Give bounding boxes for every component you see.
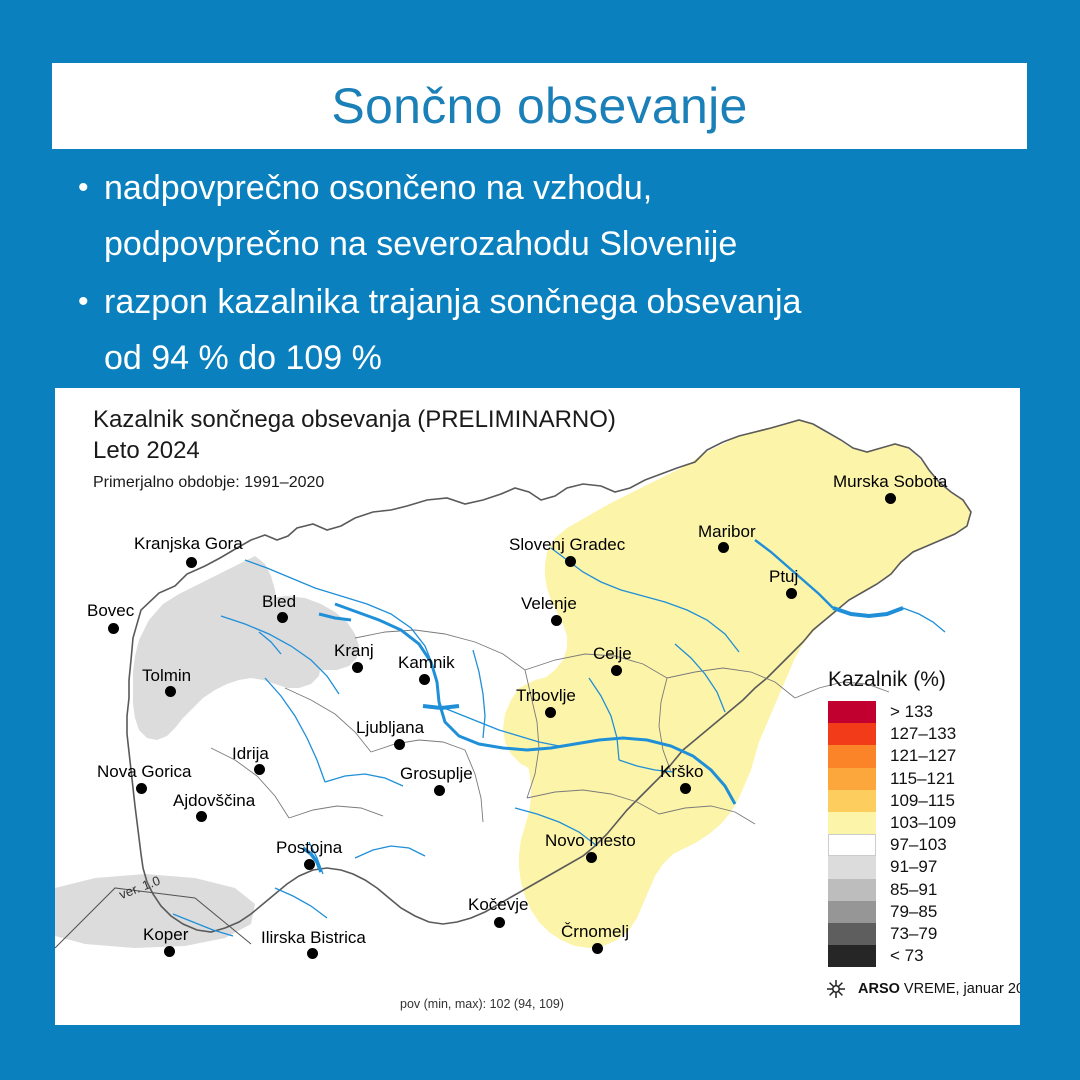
city-label: Koper — [143, 925, 188, 945]
legend-swatch — [828, 768, 876, 790]
legend-label: 115–121 — [890, 769, 955, 789]
legend-row: 85–91 — [814, 879, 1004, 901]
legend-row: 127–133 — [814, 723, 1004, 745]
legend-swatch — [828, 701, 876, 723]
city-marker — [394, 739, 405, 750]
legend-label: 91–97 — [890, 857, 937, 877]
city-label: Velenje — [521, 594, 577, 614]
city-marker — [352, 662, 363, 673]
legend-label: 97–103 — [890, 835, 947, 855]
legend-row: 91–97 — [814, 856, 1004, 878]
city-label: Ilirska Bistrica — [261, 928, 366, 948]
legend-label: 103–109 — [890, 813, 956, 833]
legend-attribution: ARSO VREME, januar 2025 — [824, 977, 1004, 1001]
legend-row: 121–127 — [814, 745, 1004, 767]
city-label: Celje — [593, 644, 632, 664]
city-label: Idrija — [232, 744, 269, 764]
city-marker — [304, 859, 315, 870]
city-label: Kamnik — [398, 653, 455, 673]
legend-label: < 73 — [890, 946, 924, 966]
sun-icon — [824, 977, 848, 1001]
city-label: Slovenj Gradec — [509, 535, 625, 555]
city-marker — [434, 785, 445, 796]
city-marker — [565, 556, 576, 567]
map-title-line2: Leto 2024 — [93, 435, 616, 466]
city-marker — [136, 783, 147, 794]
legend-swatch — [828, 923, 876, 945]
page-title: Sončno obsevanje — [331, 81, 747, 131]
legend-swatch — [828, 834, 876, 856]
slide-root: { "theme": { "background": "#0b80be", "t… — [0, 0, 1080, 1080]
bullet-marker-icon: • — [78, 274, 104, 330]
city-marker — [680, 783, 691, 794]
city-label: Trbovlje — [516, 686, 576, 706]
legend-label: 127–133 — [890, 724, 956, 744]
map-title-line1: Kazalnik sončnega obsevanja (PRELIMINARN… — [93, 404, 616, 435]
city-marker — [611, 665, 622, 676]
legend-swatch — [828, 901, 876, 923]
legend-label: 73–79 — [890, 924, 937, 944]
legend-swatch — [828, 745, 876, 767]
city-marker — [165, 686, 176, 697]
city-marker — [307, 948, 318, 959]
city-marker — [494, 917, 505, 928]
legend-label: 121–127 — [890, 746, 956, 766]
city-marker — [592, 943, 603, 954]
city-label: Krško — [660, 762, 703, 782]
legend-swatch — [828, 879, 876, 901]
city-marker — [551, 615, 562, 626]
legend-rows: > 133127–133121–127115–121109–115103–109… — [814, 701, 1004, 967]
legend-title: Kazalnik (%) — [828, 668, 1004, 692]
legend-label: 85–91 — [890, 880, 937, 900]
attribution-rest: VREME, januar 2025 — [900, 981, 1020, 997]
legend-swatch — [828, 945, 876, 967]
bullet-text: razpon kazalnika trajanja sončnega obsev… — [104, 274, 801, 386]
city-marker — [718, 542, 729, 553]
city-label: Tolmin — [142, 666, 191, 686]
city-label: Postojna — [276, 838, 342, 858]
map-card: Kazalnik sončnega obsevanja (PRELIMINARN… — [55, 388, 1020, 1025]
legend-swatch — [828, 812, 876, 834]
city-marker — [196, 811, 207, 822]
city-label: Nova Gorica — [97, 762, 191, 782]
legend-row: 79–85 — [814, 901, 1004, 923]
city-label: Murska Sobota — [833, 472, 947, 492]
legend-row: 73–79 — [814, 923, 1004, 945]
city-marker — [786, 588, 797, 599]
attribution-brand: ARSO — [858, 981, 900, 997]
city-marker — [277, 612, 288, 623]
legend-label: 79–85 — [890, 902, 937, 922]
legend-row: 109–115 — [814, 790, 1004, 812]
legend-label: > 133 — [890, 702, 933, 722]
title-card: Sončno obsevanje — [52, 63, 1027, 149]
city-marker — [186, 557, 197, 568]
city-label: Bled — [262, 592, 296, 612]
city-label: Ajdovščina — [173, 791, 255, 811]
city-label: Novo mesto — [545, 831, 636, 851]
city-label: Kranj — [334, 641, 374, 661]
city-label: Grosuplje — [400, 764, 473, 784]
legend-swatch — [828, 790, 876, 812]
legend-swatch — [828, 723, 876, 745]
bullet-marker-icon: • — [78, 160, 104, 216]
legend-row: > 133 — [814, 701, 1004, 723]
city-marker — [108, 623, 119, 634]
legend-swatch — [828, 856, 876, 878]
legend-label: 109–115 — [890, 791, 955, 811]
legend-row: 97–103 — [814, 834, 1004, 856]
city-label: Ljubljana — [356, 718, 424, 738]
city-marker — [254, 764, 265, 775]
legend-row: 103–109 — [814, 812, 1004, 834]
list-item: • nadpovprečno osončeno na vzhodu, podpo… — [78, 160, 1028, 272]
map-heading: Kazalnik sončnega obsevanja (PRELIMINARN… — [93, 404, 616, 496]
city-marker — [885, 493, 896, 504]
map-reference-period: Primerjalno obdobje: 1991–2020 — [93, 470, 616, 496]
city-label: Črnomelj — [561, 922, 629, 942]
city-label: Kranjska Gora — [134, 534, 243, 554]
city-marker — [545, 707, 556, 718]
city-marker — [586, 852, 597, 863]
bullet-list: • nadpovprečno osončeno na vzhodu, podpo… — [78, 160, 1028, 388]
attribution-text: ARSO VREME, januar 2025 — [858, 981, 1020, 997]
legend: Kazalnik (%) > 133127–133121–127115–1211… — [814, 668, 1004, 1001]
city-marker — [419, 674, 430, 685]
list-item: • razpon kazalnika trajanja sončnega obs… — [78, 274, 1028, 386]
legend-row: 115–121 — [814, 768, 1004, 790]
bullet-text: nadpovprečno osončeno na vzhodu, podpovp… — [104, 160, 737, 272]
map-statistics: pov (min, max): 102 (94, 109) — [400, 997, 564, 1011]
legend-row: < 73 — [814, 945, 1004, 967]
city-label: Bovec — [87, 601, 134, 621]
city-label: Ptuj — [769, 567, 798, 587]
city-label: Kočevje — [468, 895, 528, 915]
city-label: Maribor — [698, 522, 756, 542]
city-marker — [164, 946, 175, 957]
